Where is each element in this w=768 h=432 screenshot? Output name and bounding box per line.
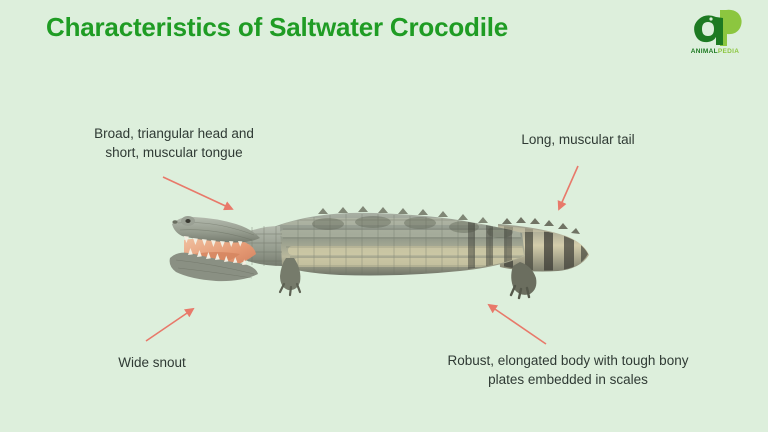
callout-label-head: Broad, triangular head and short, muscul… — [52, 124, 296, 162]
crocodile-head — [170, 216, 260, 281]
logo-monogram-icon — [686, 8, 744, 48]
arrow-body-callout — [489, 305, 546, 344]
logo-word-secondary: PEDIA — [718, 48, 739, 55]
crocodile-body — [276, 206, 530, 276]
page-title: Characteristics of Saltwater Crocodile — [46, 12, 508, 43]
logo-word-primary: ANIMAL — [691, 48, 718, 55]
callout-label-body: Robust, elongated body with tough bony p… — [412, 351, 724, 389]
arrow-snout-callout — [146, 309, 193, 341]
infographic-canvas: Characteristics of Saltwater Crocodile A… — [0, 0, 768, 432]
callout-label-snout: Wide snout — [62, 353, 242, 372]
callout-label-tail: Long, muscular tail — [478, 130, 678, 149]
logo-wordmark: ANIMALPEDIA — [678, 48, 752, 55]
animalpedia-logo[interactable]: ANIMALPEDIA — [678, 8, 752, 66]
crocodile-image — [168, 196, 592, 308]
